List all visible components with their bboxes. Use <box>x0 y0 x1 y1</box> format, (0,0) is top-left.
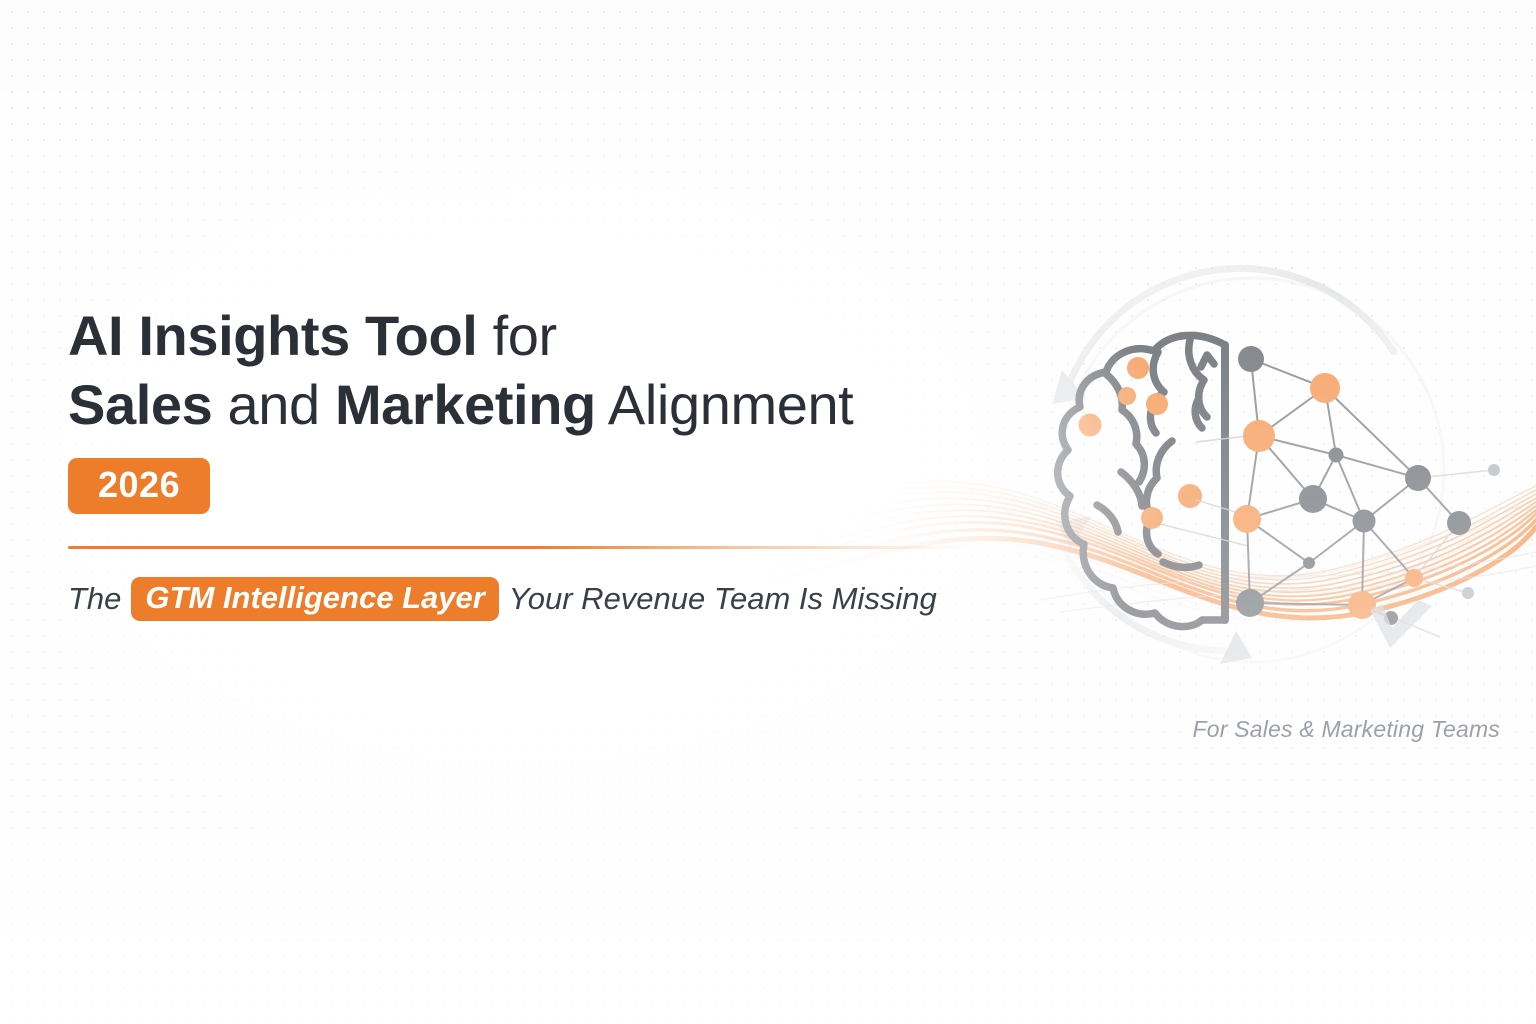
brain-network-links <box>1160 435 1262 546</box>
subtitle-prefix: The <box>68 581 121 617</box>
banner-canvas: AI Insights Tool for Sales and Marketing… <box>0 0 1536 1024</box>
headline-line2-thin-b: Alignment <box>608 373 853 436</box>
audience-label: For Sales & Marketing Teams <box>1193 716 1501 743</box>
headline-line-2: Sales and Marketing Alignment <box>68 373 1028 438</box>
subtitle-highlight-badge: GTM Intelligence Layer <box>131 577 498 622</box>
headline-line2-bold-b: Marketing <box>335 373 596 436</box>
year-badge: 2026 <box>68 458 210 514</box>
neural-network-graph-icon <box>1233 346 1500 637</box>
headline-line-1: AI Insights Tool for <box>68 304 1028 369</box>
headline-line1-bold: AI Insights Tool <box>68 304 477 367</box>
headline-block: AI Insights Tool for Sales and Marketing… <box>68 304 1028 621</box>
brain-accent-nodes <box>1079 357 1203 529</box>
network-node-accent <box>1233 373 1423 619</box>
network-node-muted <box>1462 464 1500 599</box>
guide-curves <box>1040 552 1536 612</box>
brain-outline-icon <box>1058 335 1225 626</box>
headline-line2-thin-a: and <box>228 373 320 436</box>
headline-line1-thin: for <box>493 304 557 367</box>
subtitle-block: The GTM Intelligence Layer Your Revenue … <box>68 577 1028 622</box>
headline-line2-bold-a: Sales <box>68 373 212 436</box>
accent-divider <box>68 546 968 549</box>
circular-arrows-icon <box>1052 268 1444 664</box>
network-node-dark <box>1236 346 1471 625</box>
check-arrow-icon <box>1370 600 1432 648</box>
subtitle-suffix: Your Revenue Team Is Missing <box>509 581 937 617</box>
